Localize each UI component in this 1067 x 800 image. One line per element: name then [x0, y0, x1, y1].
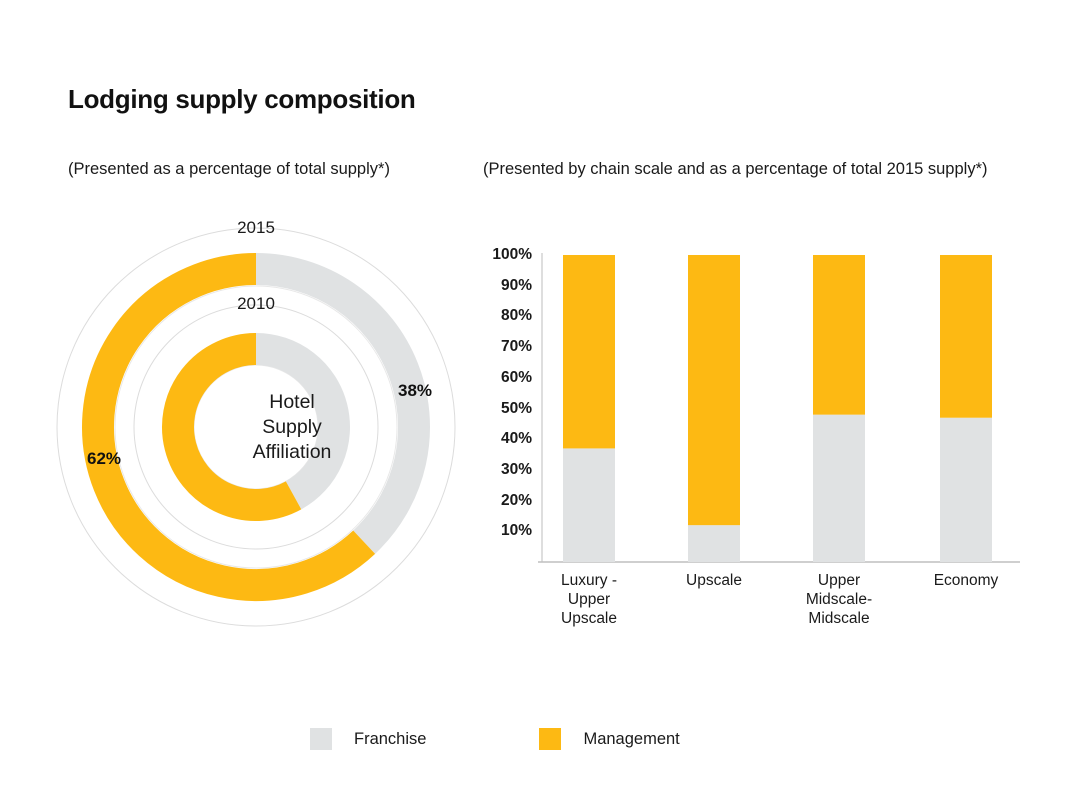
bar-segment-0-franchise	[563, 448, 615, 562]
x-category-label-0: Luxury -UpperUpscale	[519, 571, 659, 628]
y-tick-label-30: 30%	[480, 461, 532, 479]
legend-item-franchise: Franchise	[310, 728, 426, 750]
x-category-label-line: Midscale-	[769, 590, 909, 609]
donut-subtitle: (Presented as a percentage of total supp…	[68, 160, 390, 179]
bar-segment-3-management	[940, 255, 992, 418]
y-tick-label-70: 70%	[480, 338, 532, 356]
donut-center-label: Hotel Supply Affiliation	[204, 390, 380, 465]
x-category-label-3: Economy	[896, 571, 1036, 590]
donut-center-line-1: Hotel	[204, 390, 380, 415]
chart-legend: Franchise Management	[310, 728, 680, 750]
donut-center-line-3: Affiliation	[204, 440, 380, 465]
bar-segment-2-management	[813, 255, 865, 415]
bars-group	[563, 255, 992, 562]
bar-segment-2-franchise	[813, 415, 865, 562]
bar-segment-1-management	[688, 255, 740, 525]
management-swatch-icon	[539, 728, 561, 750]
bar-segment-1-franchise	[688, 525, 740, 562]
x-category-label-line: Upscale	[644, 571, 784, 590]
legend-label-management: Management	[583, 730, 679, 749]
x-category-label-line: Economy	[896, 571, 1036, 590]
donut-chart: 2015 2010 62% 38% Hotel Supply Affiliati…	[36, 205, 476, 655]
x-category-label-1: Upscale	[644, 571, 784, 590]
donut-center-line-2: Supply	[204, 415, 380, 440]
y-tick-label-50: 50%	[480, 400, 532, 418]
chart-page: Lodging supply composition (Presented as…	[0, 0, 1067, 800]
y-tick-label-20: 20%	[480, 492, 532, 510]
bar-segment-0-management	[563, 255, 615, 448]
legend-item-management: Management	[539, 728, 679, 750]
donut-franchise-value: 38%	[398, 381, 432, 401]
stacked-bar-chart: 100%90%80%70%60%50%40%30%20%10% Luxury -…	[480, 235, 1040, 645]
x-category-label-line: Upscale	[519, 609, 659, 628]
ring-label-2015: 2015	[216, 218, 296, 238]
y-tick-label-10: 10%	[480, 522, 532, 540]
donut-management-value: 62%	[87, 449, 121, 469]
franchise-swatch-icon	[310, 728, 332, 750]
y-tick-label-60: 60%	[480, 369, 532, 387]
bar-subtitle: (Presented by chain scale and as a perce…	[483, 160, 988, 179]
page-title: Lodging supply composition	[68, 84, 416, 115]
x-category-label-line: Luxury -	[519, 571, 659, 590]
x-category-label-line: Upper	[769, 571, 909, 590]
x-category-label-line: Upper	[519, 590, 659, 609]
bar-segment-3-franchise	[940, 418, 992, 562]
y-tick-label-90: 90%	[480, 277, 532, 295]
ring-label-2010: 2010	[216, 294, 296, 314]
y-tick-label-40: 40%	[480, 430, 532, 448]
y-tick-label-100: 100%	[480, 246, 532, 264]
x-category-label-line: Midscale	[769, 609, 909, 628]
x-category-label-2: UpperMidscale-Midscale	[769, 571, 909, 628]
legend-label-franchise: Franchise	[354, 730, 426, 749]
y-tick-label-80: 80%	[480, 307, 532, 325]
